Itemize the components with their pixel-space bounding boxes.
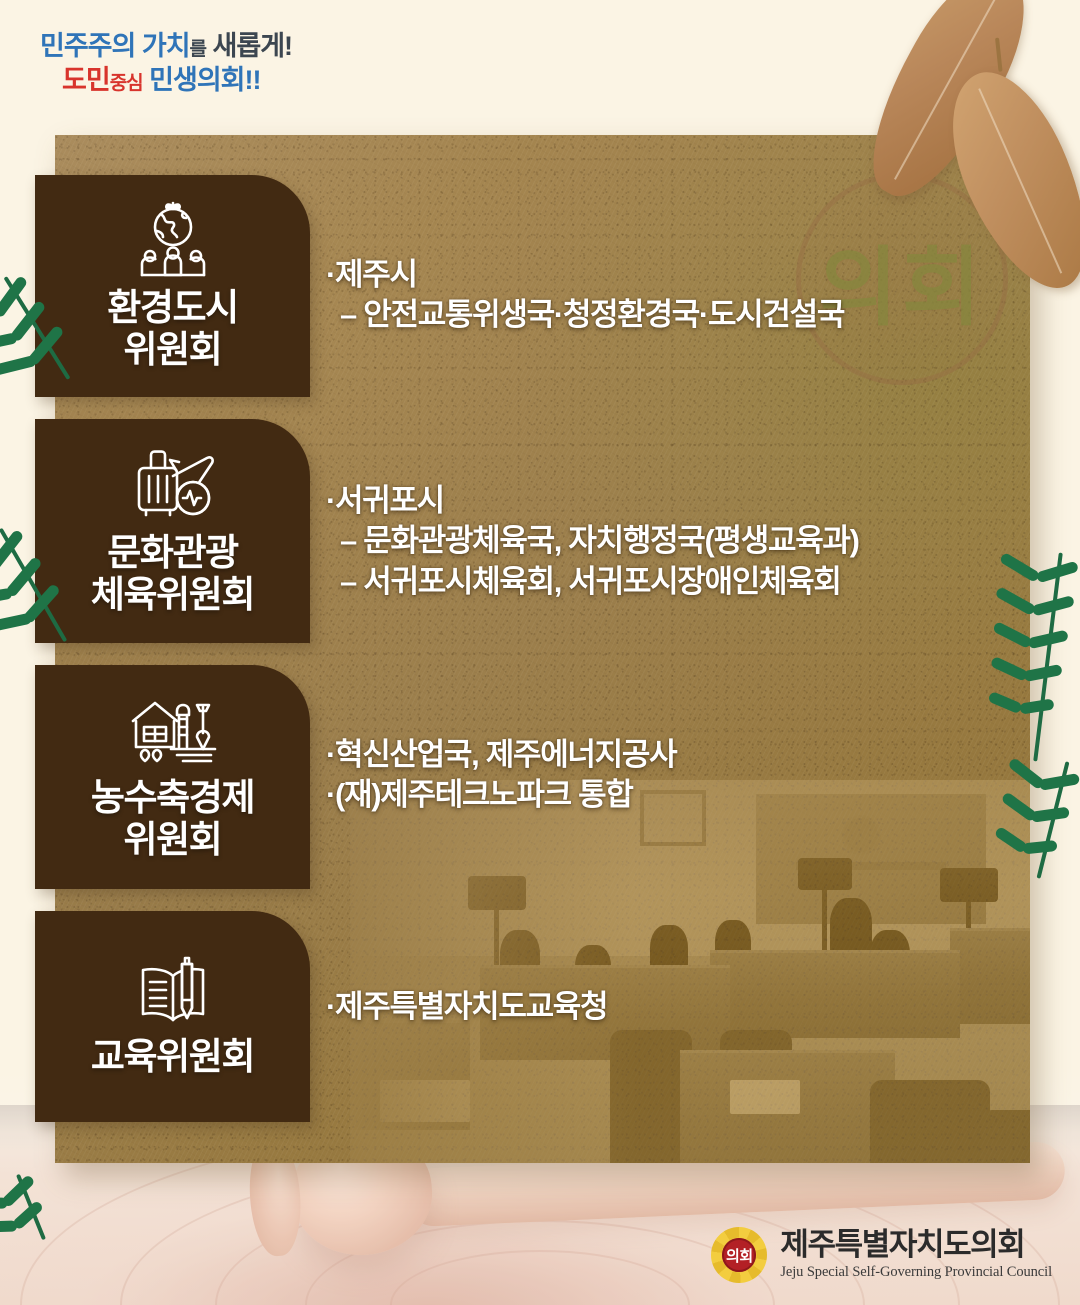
headline-slogan: 민주주의 가치를 새롭게! 도민중심 민생의회!!: [40, 33, 292, 94]
council-logo-text: 제주특별자치도의회 Jeju Special Self-Governing Pr…: [780, 1229, 1052, 1281]
council-logo: 의회 제주특별자치도의회 Jeju Special Self-Governing…: [711, 1227, 1052, 1283]
globe-people-icon: [129, 201, 217, 277]
council-emblem-icon: 의회: [711, 1227, 767, 1283]
committee-details-environment-city: ·제주시 – 안전교통위생국·청정환경국·도시건설국: [326, 255, 844, 336]
detail-line: ·(재)제주테크노파크 통합: [326, 775, 676, 815]
committee-details-education: ·제주특별자치도교육청: [326, 987, 607, 1027]
committee-details-culture-tourism-sports: ·서귀포시 – 문화관광체육국, 자치행정국(평생교육과) – 서귀포시체육회,…: [326, 481, 859, 602]
detail-line: ·서귀포시: [326, 481, 859, 521]
chamber-photo-fade: [350, 780, 1030, 1163]
headline-line1-part1: 민주주의 가치: [40, 31, 190, 61]
detail-line: ·혁신산업국, 제주에너지공사: [326, 735, 676, 775]
headline-line1-part2: 를: [190, 39, 206, 60]
committee-card-title: 농수축경제 위원회: [91, 777, 254, 861]
farm-barn-icon: [127, 693, 219, 767]
council-name-en: Jeju Special Self-Governing Provincial C…: [780, 1264, 1052, 1281]
headline-line-1: 민주주의 가치를 새롭게!: [40, 33, 292, 60]
committee-card-title: 문화관광 체육위원회: [91, 532, 254, 616]
headline-line2-part1: 도민: [62, 65, 110, 95]
detail-line: – 안전교통위생국·청정환경국·도시건설국: [326, 295, 844, 335]
luggage-airplane-icon: [127, 446, 219, 522]
committee-card-agriculture-economy[interactable]: 농수축경제 위원회: [35, 665, 310, 889]
committee-card-title: 환경도시 위원회: [107, 287, 238, 371]
infographic-canvas: 의회: [0, 0, 1080, 1305]
headline-line2-part2: 중심: [110, 73, 143, 94]
council-chamber-photo: [350, 780, 1030, 1163]
committee-card-education[interactable]: 교육위원회: [35, 911, 310, 1122]
headline-line-2: 도민중심 민생의회!!: [40, 67, 292, 94]
detail-line: – 문화관광체육국, 자치행정국(평생교육과): [326, 521, 859, 561]
council-name-ko: 제주특별자치도의회: [780, 1229, 1052, 1262]
detail-line: ·제주특별자치도교육청: [326, 987, 607, 1027]
detail-line: – 서귀포시체육회, 서귀포시장애인체육회: [326, 562, 859, 602]
headline-line2-part3: 민생의회!!: [143, 65, 261, 95]
detail-line: ·제주시: [326, 255, 844, 295]
committee-details-agriculture-economy: ·혁신산업국, 제주에너지공사 ·(재)제주테크노파크 통합: [326, 735, 676, 816]
committee-card-title: 교육위원회: [91, 1036, 254, 1078]
book-pencil-icon: [130, 956, 216, 1026]
emblem-label: 의회: [726, 1245, 753, 1266]
headline-line1-part3: 새롭게!: [206, 31, 292, 61]
